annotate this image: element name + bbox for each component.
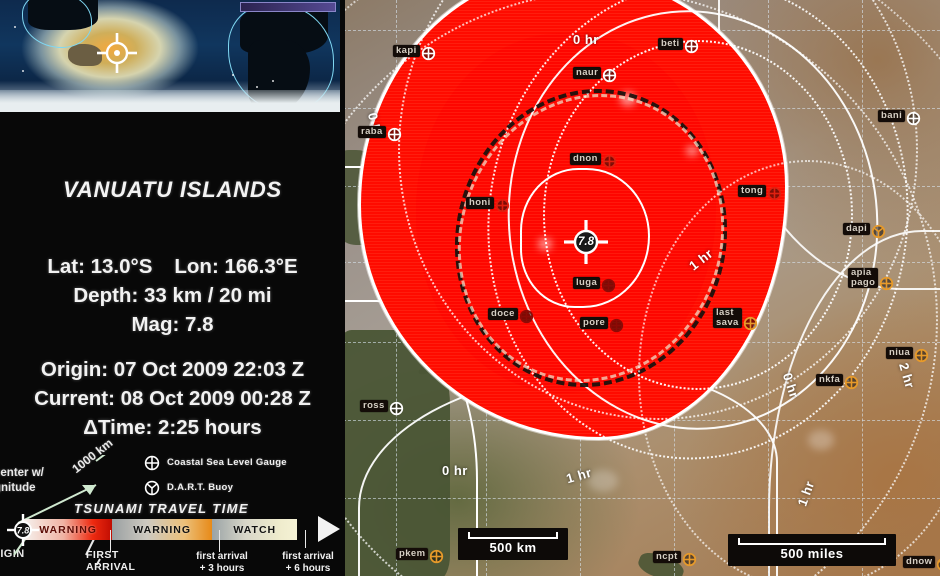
station-honi[interactable]: honi <box>466 192 494 210</box>
station-naur[interactable]: naur <box>573 62 601 80</box>
station-label: lastsava <box>713 308 742 328</box>
inset-dot-5 <box>272 80 274 82</box>
coastal-sea-level-gauge-icon <box>906 111 921 126</box>
coastal-sea-level-gauge-icon <box>767 186 782 201</box>
tsunami-travel-time-map[interactable]: 7.8 0 hr 0 hr 0 hr 0 hr 1 hr 1 hr 1 hr 2… <box>338 0 940 576</box>
legend-origin-crosshair-icon: 7.8 <box>6 513 40 547</box>
station-label: honi <box>466 197 494 209</box>
station-beti[interactable]: beti <box>658 33 683 51</box>
dart-buoy-icon <box>936 557 940 572</box>
epicenter-magnitude-label: 7.8 <box>562 218 610 266</box>
annotation-plus3-line2: + 3 hours <box>176 563 268 575</box>
info-panel: VANUATU ISLANDS Lat: 13.0°SLon: 166.3°E … <box>0 0 345 576</box>
latlon-line: Lat: 13.0°SLon: 166.3°E <box>0 255 345 279</box>
contour-0hr-top: 0 hr <box>573 32 599 47</box>
contour-0hr-bottom: 0 hr <box>442 463 468 478</box>
coastal-sea-level-gauge-icon <box>844 375 859 390</box>
station-niua[interactable]: niua <box>886 342 913 360</box>
legend-item-gauge: Coastal Sea Level Gauge <box>144 450 344 475</box>
inset-dot-1 <box>14 26 16 28</box>
longitude-value: Lon: 166.3°E <box>174 255 297 278</box>
annotation-plus6-line1: first arrival <box>265 551 345 563</box>
scale-bar-km: 500 km <box>458 528 568 560</box>
station-label: ncpt <box>653 551 681 563</box>
tsunami-warning-screen: 7.8 0 hr 0 hr 0 hr 0 hr 1 hr 1 hr 1 hr 2… <box>0 0 940 576</box>
elapsed-time-value: ΔTime: 2:25 hours <box>0 416 345 440</box>
station-label: niua <box>886 347 913 359</box>
station-label: naur <box>573 67 601 79</box>
coastal-sea-level-gauge-icon <box>389 401 404 416</box>
page-title: VANUATU ISLANDS <box>0 177 345 203</box>
scale-bar-miles: 500 miles <box>728 534 896 566</box>
station-tong[interactable]: tong <box>738 180 766 198</box>
legend-tick-plus6 <box>305 530 306 548</box>
station-label: dapi <box>843 223 870 235</box>
legend-gauge-label: Coastal Sea Level Gauge <box>167 457 287 468</box>
annotation-first-arrival: FIRST ARRIVAL <box>86 549 176 573</box>
station-kapi[interactable]: kapi <box>393 40 420 58</box>
station-apia-pago[interactable]: apiapago <box>848 268 878 290</box>
station-ross[interactable]: ross <box>360 395 388 413</box>
annotation-plus3-line1: first arrival <box>176 551 268 563</box>
scale-bar-miles-rule <box>738 538 886 545</box>
inset-color-bar <box>240 2 336 12</box>
coastal-sea-level-gauge-icon <box>519 309 534 324</box>
coastal-sea-level-gauge-icon <box>495 198 510 213</box>
coastal-sea-level-gauge-icon <box>682 552 697 567</box>
inset-coastline-2 <box>22 0 92 48</box>
depth-value: Depth: 33 km / 20 mi <box>0 284 345 308</box>
coastal-sea-level-gauge-icon <box>602 154 617 169</box>
legend-origin-marker: 7.8 <box>6 513 40 547</box>
inset-antarctica <box>0 90 340 112</box>
station-nkfa[interactable]: nkfa <box>816 369 843 387</box>
coastal-sea-level-gauge-icon <box>743 316 758 331</box>
coastal-sea-level-gauge-icon <box>609 318 624 333</box>
station-label: doce <box>488 308 518 320</box>
legend-segment-watch-label: WATCH <box>212 519 297 540</box>
coastal-sea-level-gauge-icon <box>421 46 436 61</box>
coastal-sea-level-gauge-icon <box>914 348 929 363</box>
legend-segment-warning-mid: WARNING <box>112 519 212 540</box>
legend-symbol-list: Coastal Sea Level Gauge D.A.R.T. Buoy <box>144 450 344 500</box>
annotation-plus-6-hours: first arrival + 6 hours <box>265 551 345 575</box>
station-label: luga <box>573 277 600 289</box>
coastal-sea-level-gauge-icon <box>387 127 402 142</box>
station-label: dnow <box>903 556 935 568</box>
inset-dot-2 <box>22 70 24 72</box>
station-label: nkfa <box>816 374 843 386</box>
legend-item-dart: D.A.R.T. Buoy <box>144 475 344 500</box>
scale-bar-miles-label: 500 miles <box>738 546 886 561</box>
station-label: raba <box>358 126 386 138</box>
scale-bar-km-label: 500 km <box>468 540 558 555</box>
travel-time-legend-arrow <box>318 516 340 542</box>
inset-dot-3 <box>232 74 234 76</box>
annotation-plus-3-hours: first arrival + 3 hours <box>176 551 268 575</box>
station-label: tong <box>738 185 766 197</box>
scale-bar-km-rule <box>468 532 558 539</box>
station-doce[interactable]: doce <box>488 303 518 321</box>
station-ncpt[interactable]: ncpt <box>653 546 681 564</box>
station-last-sava[interactable]: lastsava <box>713 308 742 330</box>
station-luga[interactable]: luga <box>573 272 600 290</box>
station-label: apiapago <box>848 268 878 288</box>
svg-text:7.8: 7.8 <box>17 526 30 536</box>
station-pkem[interactable]: pkem <box>396 543 428 561</box>
coastal-sea-level-gauge-icon <box>684 39 699 54</box>
coastal-sea-level-gauge-icon <box>429 549 444 564</box>
inset-epicenter-crosshair <box>96 32 138 74</box>
station-label: beti <box>658 38 683 50</box>
annotation-first-arrival-line1: FIRST <box>86 549 176 561</box>
station-label: kapi <box>393 45 420 57</box>
dart-buoy-icon <box>871 224 886 239</box>
current-time-value: Current: 08 Oct 2009 00:28 Z <box>0 387 345 411</box>
station-label: pore <box>580 317 608 329</box>
magnitude-value: Mag: 7.8 <box>0 313 345 337</box>
station-label: ross <box>360 400 388 412</box>
epicenter-marker[interactable]: 7.8 <box>562 218 610 266</box>
latitude-value: Lat: 13.0°S <box>47 255 152 278</box>
legend-segment-warning-mid-label: WARNING <box>112 519 212 540</box>
inset-dot-4 <box>256 86 258 88</box>
station-pore[interactable]: pore <box>580 312 608 330</box>
station-dnon[interactable]: dnon <box>570 148 601 166</box>
coastal-sea-level-gauge-icon <box>601 278 616 293</box>
legend-dart-label: D.A.R.T. Buoy <box>167 482 233 493</box>
origin-time-value: Origin: 07 Oct 2009 22:03 Z <box>0 358 345 382</box>
pacific-overview-inset[interactable] <box>0 0 340 112</box>
station-label: pkem <box>396 548 428 560</box>
annotation-plus6-line2: + 6 hours <box>265 563 345 575</box>
coastal-sea-level-gauge-icon <box>602 68 617 83</box>
legend-segment-watch: WATCH <box>212 519 297 540</box>
travel-time-legend-bar[interactable]: WARNING WARNING WATCH <box>24 519 318 540</box>
station-dapi[interactable]: dapi <box>843 218 870 236</box>
station-raba[interactable]: raba <box>358 121 386 139</box>
annotation-first-arrival-line2: ARRIVAL <box>86 561 176 573</box>
station-dnow[interactable]: dnow <box>903 551 935 569</box>
coastal-sea-level-gauge-icon <box>879 276 894 291</box>
inset-crosshair-icon <box>96 32 138 74</box>
station-bani[interactable]: bani <box>878 105 905 123</box>
travel-time-legend-title: TSUNAMI TRAVEL TIME <box>74 501 249 516</box>
station-label: bani <box>878 110 905 122</box>
legend-tick-plus3 <box>219 530 220 552</box>
station-label: dnon <box>570 153 601 165</box>
